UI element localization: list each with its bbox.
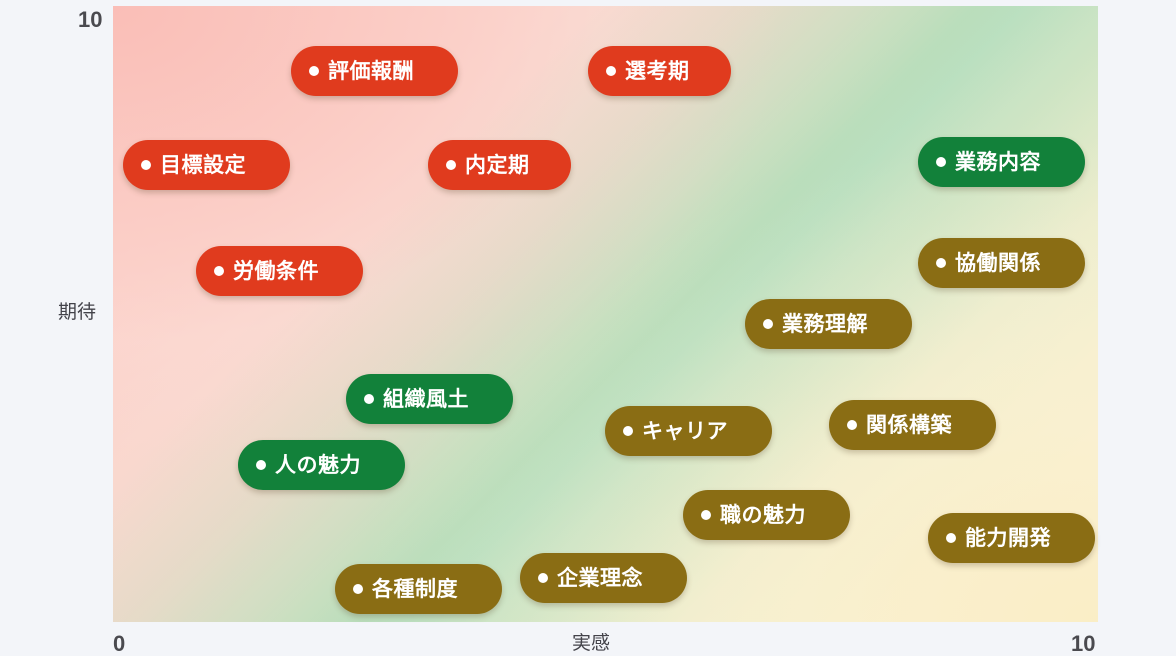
plot-area: 評価報酬選考期目標設定内定期業務内容労働条件協働関係業務理解組織風土キャリア関係… xyxy=(113,6,1098,622)
data-point-pill[interactable]: 企業理念 xyxy=(520,553,687,603)
bullet-dot-icon xyxy=(606,66,616,76)
bullet-dot-icon xyxy=(847,420,857,430)
data-point-label: 関係構築 xyxy=(866,415,952,436)
data-point-label: 業務理解 xyxy=(782,314,868,335)
bullet-dot-icon xyxy=(309,66,319,76)
bullet-dot-icon xyxy=(936,157,946,167)
data-point-pill[interactable]: 労働条件 xyxy=(196,246,363,296)
data-point-label: 職の魅力 xyxy=(720,505,806,526)
bullet-dot-icon xyxy=(364,394,374,404)
data-point-label: 選考期 xyxy=(625,61,690,82)
x-axis-title: 実感 xyxy=(572,634,610,653)
data-point-label: 企業理念 xyxy=(557,568,643,589)
bullet-dot-icon xyxy=(763,319,773,329)
data-point-pill[interactable]: 評価報酬 xyxy=(291,46,458,96)
data-point-label: 労働条件 xyxy=(233,261,319,282)
data-point-pill[interactable]: 組織風土 xyxy=(346,374,513,424)
data-point-pill[interactable]: 能力開発 xyxy=(928,513,1095,563)
bullet-dot-icon xyxy=(353,584,363,594)
bullet-dot-icon xyxy=(256,460,266,470)
data-point-pill[interactable]: 人の魅力 xyxy=(238,440,405,490)
data-point-label: 評価報酬 xyxy=(328,61,414,82)
data-point-label: 協働関係 xyxy=(955,253,1041,274)
data-point-label: 目標設定 xyxy=(160,155,246,176)
y-axis-title: 期待 xyxy=(58,303,96,322)
data-point-pill[interactable]: 選考期 xyxy=(588,46,731,96)
x-axis-min-label: 0 xyxy=(113,633,125,655)
scatter-chart-canvas: 評価報酬選考期目標設定内定期業務内容労働条件協働関係業務理解組織風土キャリア関係… xyxy=(0,0,1176,656)
bullet-dot-icon xyxy=(538,573,548,583)
data-point-pill[interactable]: キャリア xyxy=(605,406,772,456)
y-axis-max-label: 10 xyxy=(78,9,102,31)
data-point-pill[interactable]: 関係構築 xyxy=(829,400,996,450)
data-point-pill[interactable]: 内定期 xyxy=(428,140,571,190)
x-axis-max-label: 10 xyxy=(1071,633,1095,655)
bullet-dot-icon xyxy=(623,426,633,436)
data-point-pill[interactable]: 目標設定 xyxy=(123,140,290,190)
data-point-pill[interactable]: 職の魅力 xyxy=(683,490,850,540)
data-point-label: 内定期 xyxy=(465,155,530,176)
data-point-label: キャリア xyxy=(642,421,728,442)
data-point-label: 業務内容 xyxy=(955,152,1041,173)
data-point-pill[interactable]: 業務内容 xyxy=(918,137,1085,187)
data-point-label: 各種制度 xyxy=(372,579,458,600)
data-point-pill[interactable]: 各種制度 xyxy=(335,564,502,614)
bullet-dot-icon xyxy=(936,258,946,268)
bullet-dot-icon xyxy=(446,160,456,170)
bullet-dot-icon xyxy=(141,160,151,170)
bullet-dot-icon xyxy=(214,266,224,276)
data-point-pill[interactable]: 協働関係 xyxy=(918,238,1085,288)
data-point-label: 人の魅力 xyxy=(275,455,361,476)
bullet-dot-icon xyxy=(701,510,711,520)
data-point-label: 組織風土 xyxy=(383,389,469,410)
bullet-dot-icon xyxy=(946,533,956,543)
data-point-label: 能力開発 xyxy=(965,528,1051,549)
data-point-pill[interactable]: 業務理解 xyxy=(745,299,912,349)
